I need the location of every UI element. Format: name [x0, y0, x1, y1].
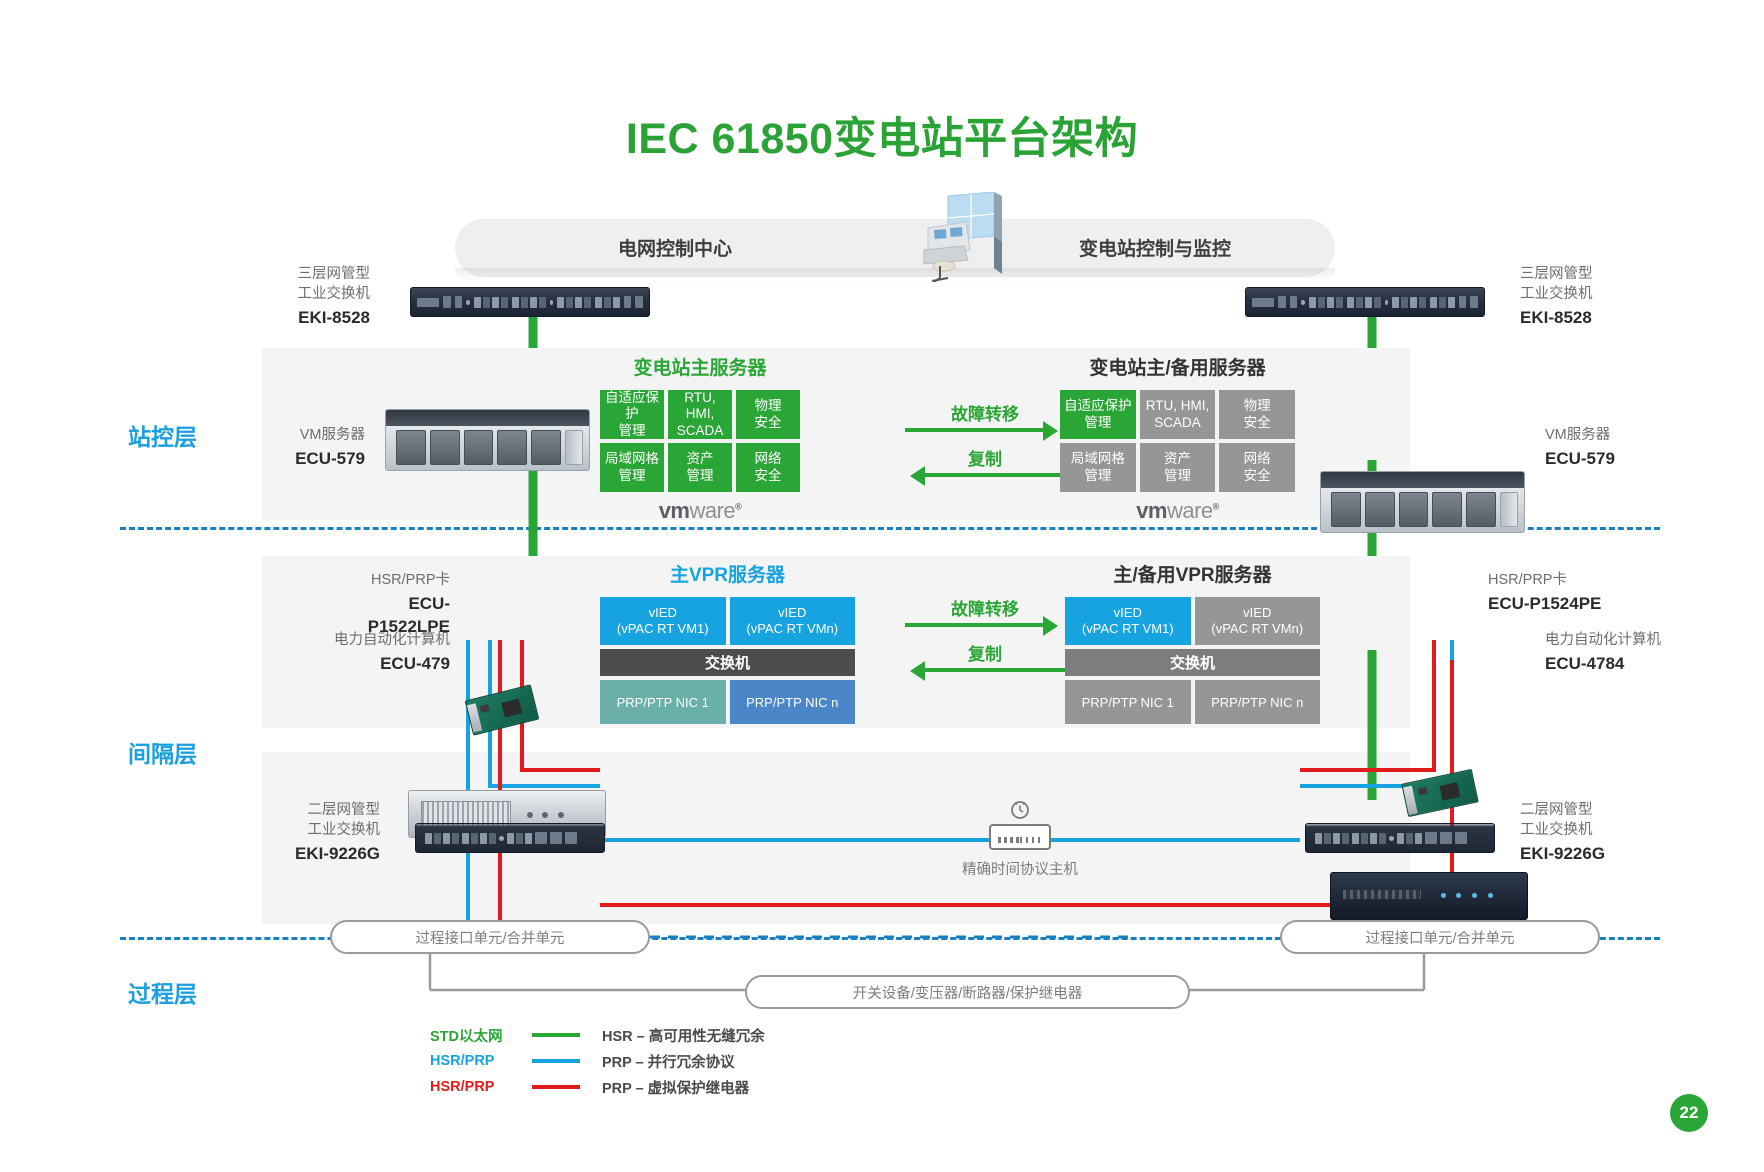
vied-cell[interactable]: vIED (vPAC RT VM1) [1065, 597, 1191, 645]
legend-row: HSR/PRP PRP – 虚拟保护继电器 [430, 1074, 950, 1100]
station-cell[interactable]: 资产 管理 [1140, 443, 1216, 492]
hsr-prp-left-line1: HSR/PRP卡 [330, 570, 450, 590]
vmware-logo-left: vmware® [600, 498, 800, 524]
vm-server-left-line1: VM服务器 [265, 425, 365, 445]
bay-replicate-arrow-head [910, 661, 925, 681]
switch-right-l3-line2: 工业交换机 [1520, 284, 1640, 304]
bay-left-panel-title: 主VPR服务器 [600, 560, 855, 587]
vied-subtitle: (vPAC RT VM1) [1082, 621, 1174, 637]
ptp-leds-icon [1020, 837, 1042, 843]
bay-right-switch-bar[interactable]: 交换机 [1065, 649, 1320, 676]
legend-tag: STD以太网 [430, 1025, 522, 1046]
switch-label-left-l3: 三层网管型 工业交换机 EKI-8528 [275, 264, 370, 329]
station-cell[interactable]: 网络 安全 [736, 443, 800, 492]
layer-label-bay: 间隔层 [128, 735, 258, 769]
legend-line-swatch [532, 1059, 580, 1063]
switch-right-l2-line1: 二层网管型 [1520, 800, 1645, 820]
vied-title: vIED [746, 605, 838, 621]
switch-left-l3-line1: 三层网管型 [275, 264, 370, 284]
station-left-panel-title: 变电站主服务器 [600, 353, 800, 380]
switch-right-l3-model: EKI-8528 [1520, 306, 1640, 329]
vm-server-device-right[interactable] [1320, 471, 1525, 533]
vm-server-label-left: VM服务器 ECU-579 [265, 425, 365, 470]
vendor-mark-icon [1252, 298, 1274, 307]
station-cell[interactable]: RTU, HMI, SCADA [1140, 390, 1216, 439]
bay-failover-arrow-head [1043, 616, 1058, 636]
station-cell[interactable]: 网络 安全 [1219, 443, 1295, 492]
process-interface-pill-left[interactable]: 过程接口单元/合并单元 [330, 920, 650, 954]
switch-left-l3-model: EKI-8528 [275, 306, 370, 329]
switch-left-l2-model: EKI-9226G [275, 842, 380, 865]
hsr-prp-card-device-right[interactable] [1401, 769, 1478, 817]
station-cell[interactable]: RTU, HMI, SCADA [668, 390, 732, 439]
switch-label-right-l2: 二层网管型 工业交换机 EKI-9226G [1520, 800, 1645, 865]
station-cell[interactable]: 自适应保护 管理 [1060, 390, 1136, 439]
nic-cell[interactable]: PRP/PTP NIC n [1195, 680, 1321, 724]
station-cell[interactable]: 物理 安全 [736, 390, 800, 439]
automation-computer-label-right: 电力自动化计算机 ECU-4784 [1545, 630, 1705, 675]
automation-computer-device-right[interactable] [1330, 872, 1528, 920]
bay-left-vied-row: vIED (vPAC RT VM1) vIED (vPAC RT VMn) [600, 597, 855, 645]
switch-device-right-l2[interactable] [1305, 823, 1495, 853]
vm-server-right-line1: VM服务器 [1545, 425, 1655, 445]
station-left-cell-grid: 自适应保护 管理 RTU, HMI, SCADA 物理 安全 局域网格 管理 资… [600, 390, 800, 492]
legend-desc: PRP – 虚拟保护继电器 [602, 1077, 749, 1098]
layer-label-process: 过程层 [128, 975, 258, 1009]
bay-left-nic-row: PRP/PTP NIC 1 PRP/PTP NIC n [600, 680, 855, 724]
vendor-mark-icon [417, 298, 439, 307]
vied-cell[interactable]: vIED (vPAC RT VMn) [1195, 597, 1321, 645]
vied-title: vIED [617, 605, 709, 621]
bay-right-panel-title: 主/备用VPR服务器 [1065, 560, 1320, 587]
station-replicate-label: 复制 [905, 445, 1065, 470]
legend-tag: HSR/PRP [430, 1079, 522, 1095]
bay-failover-group: 故障转移 [905, 595, 1065, 620]
bay-failover-arrow-line [905, 623, 1045, 627]
vied-cell[interactable]: vIED (vPAC RT VM1) [600, 597, 726, 645]
bay-replicate-label: 复制 [905, 640, 1065, 665]
switch-left-l2-line1: 二层网管型 [275, 800, 380, 820]
bay-left-switch-bar[interactable]: 交换机 [600, 649, 855, 676]
vied-cell[interactable]: vIED (vPAC RT VMn) [730, 597, 856, 645]
hsr-prp-card-label-left: HSR/PRP卡 ECU-P1522LPE [330, 570, 450, 639]
vm-server-device-left[interactable] [385, 409, 590, 471]
hsr-prp-right-model: ECU-P1524PE [1488, 592, 1628, 615]
legend-line-swatch [532, 1033, 580, 1037]
vm-server-right-model: ECU-579 [1545, 447, 1655, 470]
station-replicate-group: 复制 [905, 445, 1065, 470]
vmware-logo-right: vmware® [1060, 498, 1295, 524]
vied-subtitle: (vPAC RT VM1) [617, 621, 709, 637]
station-left-panel: 变电站主服务器 自适应保护 管理 RTU, HMI, SCADA 物理 安全 局… [600, 353, 800, 524]
switch-device-left-l3[interactable] [410, 287, 650, 317]
switch-label-left-l2: 二层网管型 工业交换机 EKI-9226G [275, 800, 380, 865]
automation-right-model: ECU-4784 [1545, 652, 1705, 675]
station-failover-top-label: 故障转移 [905, 400, 1065, 425]
station-cell[interactable]: 局域网格 管理 [600, 443, 664, 492]
legend-desc: HSR – 高可用性无缝冗余 [602, 1025, 765, 1046]
legend-desc: PRP – 并行冗余协议 [602, 1051, 735, 1072]
station-cell[interactable]: 自适应保护 管理 [600, 390, 664, 439]
switch-left-l2-line2: 工业交换机 [275, 820, 380, 840]
automation-right-line1: 电力自动化计算机 [1545, 630, 1705, 650]
automation-computer-label-left: 电力自动化计算机 ECU-479 [300, 630, 450, 675]
nic-cell[interactable]: PRP/PTP NIC 1 [1065, 680, 1191, 724]
process-interface-pill-right[interactable]: 过程接口单元/合并单元 [1280, 920, 1600, 954]
grid-control-center-label: 电网控制中心 [555, 234, 795, 261]
station-failover-arrow-line [905, 428, 1045, 432]
switch-right-l2-line2: 工业交换机 [1520, 820, 1645, 840]
switch-label-right-l3: 三层网管型 工业交换机 EKI-8528 [1520, 264, 1640, 329]
bay-right-panel: 主/备用VPR服务器 vIED (vPAC RT VM1) vIED (vPAC… [1065, 560, 1320, 724]
station-failover-group: 故障转移 [905, 400, 1065, 425]
legend-row: STD以太网 HSR – 高可用性无缝冗余 [430, 1022, 950, 1048]
legend-tag: HSR/PRP [430, 1053, 522, 1069]
station-cell[interactable]: 资产 管理 [668, 443, 732, 492]
vied-subtitle: (vPAC RT VMn) [746, 621, 838, 637]
control-room-illustration [910, 192, 1010, 282]
legend-line-swatch [532, 1085, 580, 1089]
hsr-prp-right-line1: HSR/PRP卡 [1488, 570, 1628, 590]
automation-left-line1: 电力自动化计算机 [300, 630, 450, 650]
station-replicate-arrow-line [925, 473, 1065, 477]
station-right-panel-title: 变电站主/备用服务器 [1060, 353, 1295, 380]
ptp-host-group: 精确时间协议主机 [930, 800, 1110, 879]
station-failover-arrow-head [1043, 421, 1058, 441]
clock-icon [1007, 800, 1033, 822]
nic-cell[interactable]: PRP/PTP NIC n [730, 680, 856, 724]
legend-row: HSR/PRP PRP – 并行冗余协议 [430, 1048, 950, 1074]
vied-subtitle: (vPAC RT VMn) [1211, 621, 1303, 637]
automation-left-model: ECU-479 [300, 652, 450, 675]
bay-left-panel: 主VPR服务器 vIED (vPAC RT VM1) vIED (vPAC RT… [600, 560, 855, 724]
layer-label-station: 站控层 [128, 418, 258, 452]
bay-right-vied-row: vIED (vPAC RT VM1) vIED (vPAC RT VMn) [1065, 597, 1320, 645]
legend: STD以太网 HSR – 高可用性无缝冗余 HSR/PRP PRP – 并行冗余… [430, 1022, 950, 1100]
nic-cell[interactable]: PRP/PTP NIC 1 [600, 680, 726, 724]
vm-server-label-right: VM服务器 ECU-579 [1545, 425, 1655, 470]
bay-failover-top-label: 故障转移 [905, 595, 1065, 620]
station-cell[interactable]: 局域网格 管理 [1060, 443, 1136, 492]
hsr-prp-card-label-right: HSR/PRP卡 ECU-P1524PE [1488, 570, 1628, 615]
station-right-panel: 变电站主/备用服务器 自适应保护 管理 RTU, HMI, SCADA 物理 安… [1060, 353, 1295, 524]
ptp-ports-icon [998, 837, 1022, 843]
page-title: IEC 61850变电站平台架构 [0, 104, 1764, 166]
switch-right-l3-line1: 三层网管型 [1520, 264, 1640, 284]
process-equipment-pill[interactable]: 开关设备/变压器/断路器/保护继电器 [745, 975, 1190, 1009]
bay-right-nic-row: PRP/PTP NIC 1 PRP/PTP NIC n [1065, 680, 1320, 724]
switch-device-right-l3[interactable] [1245, 287, 1485, 317]
substation-control-label: 变电站控制与监控 [995, 234, 1315, 261]
switch-left-l3-line2: 工业交换机 [275, 284, 370, 304]
vied-title: vIED [1082, 605, 1174, 621]
switch-right-l2-model: EKI-9226G [1520, 842, 1645, 865]
station-right-cell-grid: 自适应保护 管理 RTU, HMI, SCADA 物理 安全 局域网格 管理 资… [1060, 390, 1295, 492]
bay-replicate-group: 复制 [905, 640, 1065, 665]
vm-server-left-model: ECU-579 [265, 447, 365, 470]
switch-device-left-l2[interactable] [415, 823, 605, 853]
bay-replicate-arrow-line [925, 668, 1065, 672]
page-number-badge: 22 [1670, 1094, 1708, 1132]
zones-header-shadow [455, 268, 1335, 282]
station-replicate-arrow-head [910, 466, 925, 486]
ptp-host-device[interactable] [989, 824, 1051, 850]
station-cell[interactable]: 物理 安全 [1219, 390, 1295, 439]
ptp-host-label: 精确时间协议主机 [930, 858, 1110, 879]
vied-title: vIED [1211, 605, 1303, 621]
